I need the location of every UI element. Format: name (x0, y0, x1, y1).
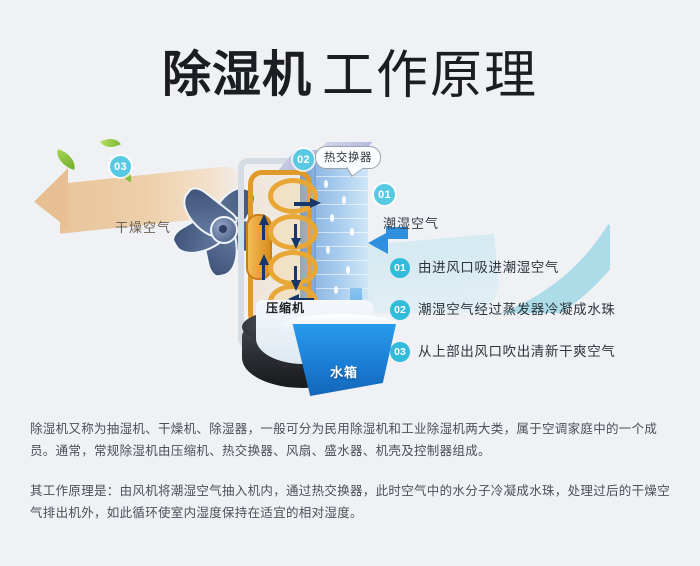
leaf-icon (100, 134, 121, 153)
step-number-badge: 03 (390, 342, 410, 362)
badge-02-heat-exchanger: 02 (293, 149, 314, 170)
heat-exchanger-callout-label: 热交换器 (324, 152, 372, 164)
step-number-badge: 01 (390, 258, 410, 278)
condenser-coil-graphic (248, 170, 316, 318)
description-block: 除湿机又称为抽湿机、干燥机、除湿器，一般可分为民用除湿机和工业除湿机两大类，属于… (30, 418, 678, 542)
humid-air-label: 潮湿空气 (383, 213, 439, 232)
heat-exchanger-callout: 热交换器 (315, 146, 381, 169)
paragraph: 其工作原理是：由风机将潮湿空气抽入机内，通过热交换器，此时空气中的水分子冷凝成水… (30, 480, 678, 524)
page-title-part2: 工作原理 (322, 47, 538, 105)
infographic-page: 除湿机工作原理 (0, 0, 700, 566)
paragraph: 除湿机又称为抽湿机、干燥机、除湿器，一般可分为民用除湿机和工业除湿机两大类，属于… (30, 418, 678, 462)
dehumidifier-unit-graphic: 压缩机 水箱 (226, 148, 396, 388)
page-title-part1: 除湿机 (162, 46, 312, 103)
step-text: 潮湿空气经过蒸发器冷凝成水珠 (418, 303, 615, 317)
page-title: 除湿机工作原理 (0, 33, 700, 108)
dry-air-label: 干燥空气 (115, 217, 171, 236)
steps-list: 01 由进风口吸进潮湿空气 02 潮湿空气经过蒸发器冷凝成水珠 03 从上部出风… (390, 258, 690, 384)
intake-airflow-arrow (368, 232, 388, 254)
coil-loop (268, 178, 318, 214)
badge-01-humid-air: 01 (374, 184, 395, 205)
water-tank-label: 水箱 (330, 362, 358, 381)
step-text: 从上部出风口吹出清新干爽空气 (418, 345, 615, 359)
list-item: 02 潮湿空气经过蒸发器冷凝成水珠 (390, 300, 690, 320)
compressor-label: 压缩机 (266, 299, 305, 316)
list-item: 01 由进风口吸进潮湿空气 (390, 258, 690, 278)
step-text: 由进风口吸进潮湿空气 (418, 261, 559, 275)
dry-air-arrow-head (34, 168, 68, 232)
list-item: 03 从上部出风口吹出清新干爽空气 (390, 342, 690, 362)
badge-03-dry-air: 03 (110, 156, 131, 177)
step-number-badge: 02 (390, 300, 410, 320)
